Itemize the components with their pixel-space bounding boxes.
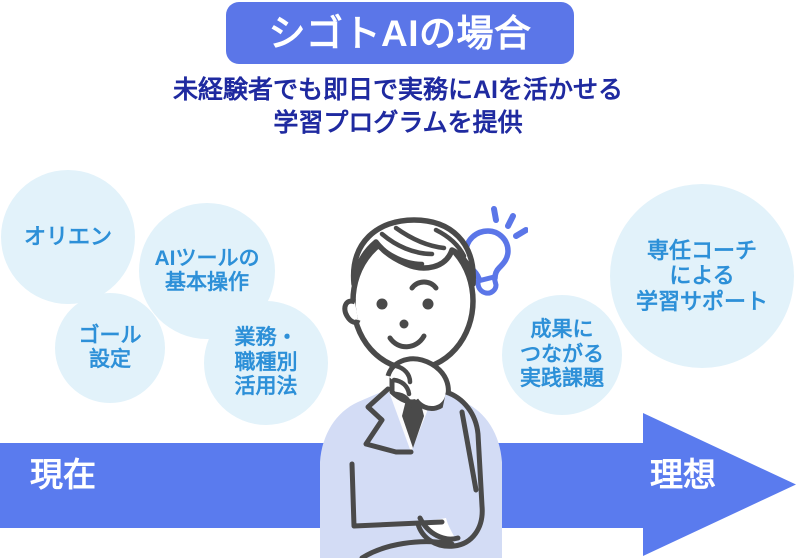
bubble-coach-support: 専任コーチ による 学習サポート <box>610 184 794 368</box>
bubble-goal-setting-label: ゴール 設定 <box>79 324 142 373</box>
bubble-ai-tools-label: AIツールの 基本操作 <box>155 247 260 296</box>
thinking-businessman-illustration <box>296 206 526 558</box>
infographic-canvas: 現在 理想 シゴトAIの場合 未経験者でも即日で実務にAIを活かせる 学習プログ… <box>0 0 796 558</box>
title-badge: シゴトAIの場合 <box>226 2 574 64</box>
bubble-use-cases-label: 業務・ 職種別 活用法 <box>235 326 298 399</box>
bubble-goal-setting: ゴール 設定 <box>55 293 165 403</box>
bubble-orientation-label: オリエン <box>24 224 112 250</box>
arrow-end-label: 理想 <box>650 458 716 491</box>
bubble-practical-assignments-label: 成果に つながる 実践課題 <box>520 318 604 391</box>
subtitle-line-2: 学習プログラムを提供 <box>0 107 796 140</box>
title-badge-label: シゴトAIの場合 <box>269 15 532 52</box>
subtitle: 未経験者でも即日で実務にAIを活かせる 学習プログラムを提供 <box>0 74 796 141</box>
subtitle-line-1: 未経験者でも即日で実務にAIを活かせる <box>0 74 796 107</box>
arrow-start-label: 現在 <box>30 458 96 491</box>
bubble-coach-support-label: 専任コーチ による 学習サポート <box>636 238 768 315</box>
bubble-orientation: オリエン <box>1 170 135 304</box>
